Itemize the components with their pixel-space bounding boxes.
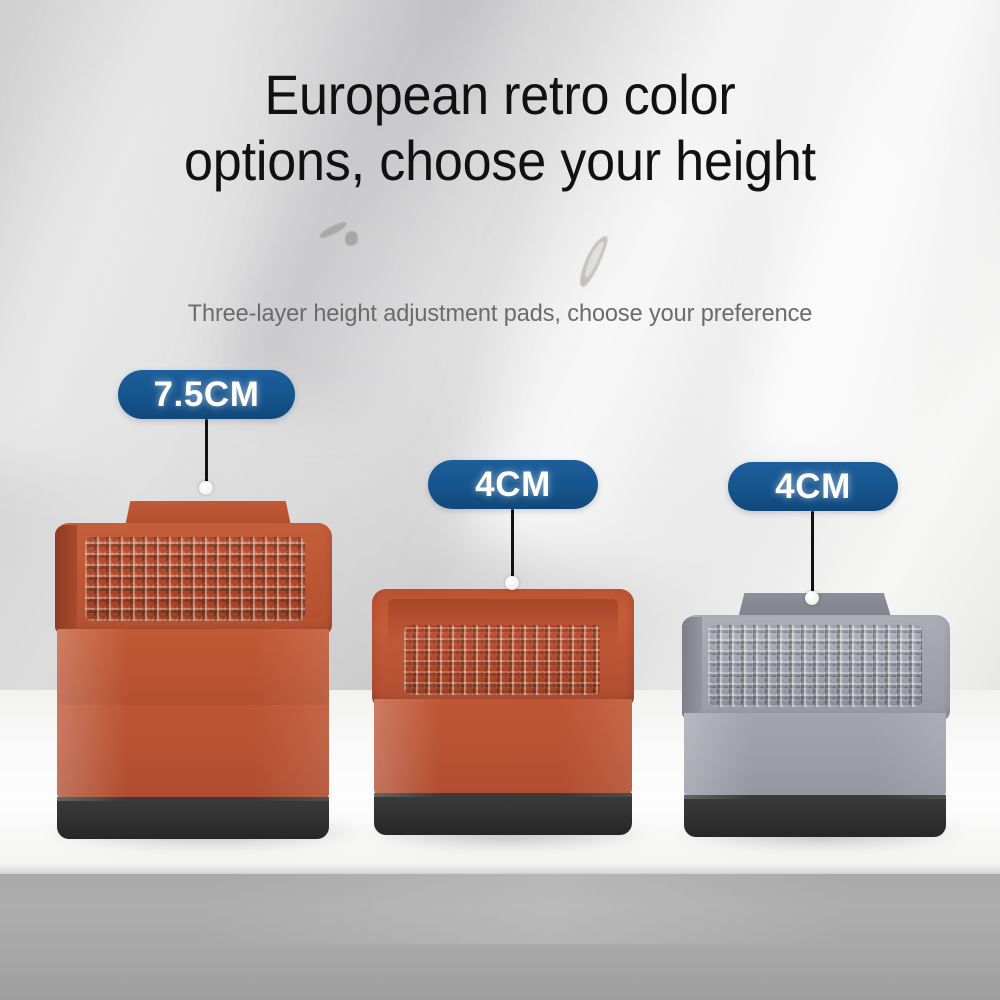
callout-4cm-middle[interactable]: 4CM: [428, 460, 598, 600]
page-title: European retro color options, choose you…: [35, 62, 965, 194]
product-body-layer-1: [374, 699, 632, 797]
callout-leader-line: [811, 511, 814, 595]
product-body-layer-1: [684, 713, 946, 799]
page-subtitle: Three-layer height adjustment pads, choo…: [20, 300, 980, 328]
callout-anchor-dot: [199, 481, 213, 495]
callout-4cm-right[interactable]: 4CM: [728, 462, 898, 602]
product-grey-short[interactable]: [682, 585, 957, 847]
callout-badge-4cm-right[interactable]: 4CM: [728, 462, 898, 511]
product-texture-pad: [404, 625, 600, 695]
callout-badge-7-5cm[interactable]: 7.5CM: [118, 370, 295, 419]
product-texture-pad: [708, 625, 922, 707]
floor-light-sheen: [0, 874, 1000, 944]
product-base: [57, 797, 329, 839]
product-body-layer-2: [57, 629, 329, 707]
product-texture-pad: [85, 537, 305, 621]
product-scene: European retro color options, choose you…: [0, 0, 1000, 1000]
product-top-left-face: [55, 525, 77, 633]
callout-leader-line: [511, 509, 514, 580]
product-top-left-face: [682, 617, 702, 719]
callout-anchor-dot: [505, 576, 519, 590]
product-base: [374, 793, 632, 835]
callout-7-5cm[interactable]: 7.5CM: [118, 370, 298, 510]
product-orange-short[interactable]: [372, 585, 642, 847]
callout-anchor-dot: [805, 591, 819, 605]
callout-leader-line: [205, 419, 208, 486]
callout-badge-4cm-middle[interactable]: 4CM: [428, 460, 598, 509]
product-base: [684, 795, 946, 837]
product-orange-tall[interactable]: [55, 495, 355, 845]
product-body-layer-1: [57, 705, 329, 801]
